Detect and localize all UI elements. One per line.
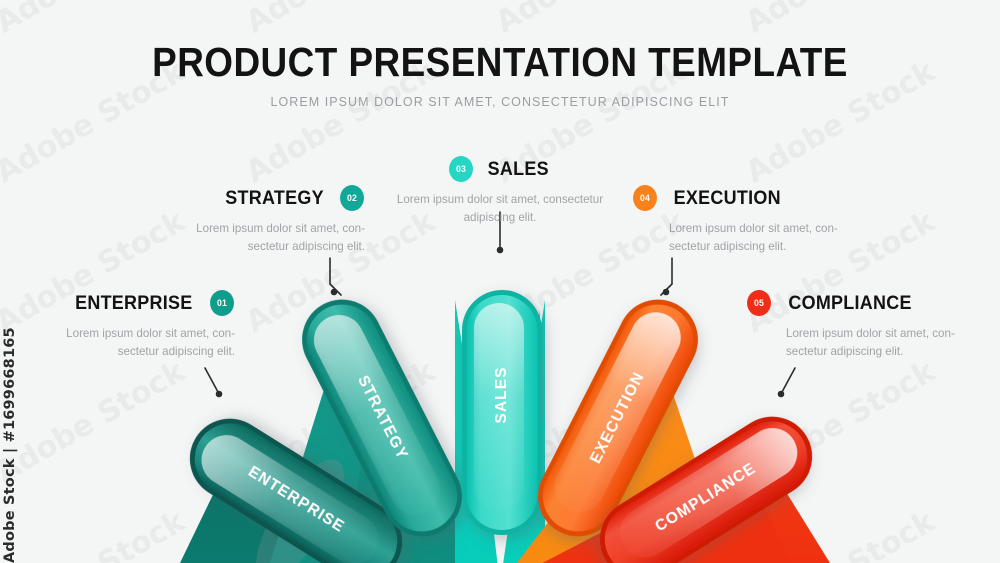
watermark-credit: Adobe Stock | #1699668165 [2, 327, 18, 563]
page-title: PRODUCT PRESENTATION TEMPLATE [50, 42, 950, 83]
page-subtitle: LOREM IPSUM DOLOR SIT AMET, CONSECTETUR … [0, 95, 1000, 109]
desc-line-1: Lorem ipsum dolor sit amet, consectetur [397, 193, 603, 206]
section-desc-execution: Lorem ipsum dolor sit amet, con- sectetu… [632, 220, 882, 256]
desc-line-2: sectetur adipiscing elit. [669, 240, 786, 253]
section-desc-enterprise: Lorem ipsum dolor sit amet, con- sectetu… [0, 325, 235, 361]
section-desc-strategy: Lorem ipsum dolor sit amet, con- sectetu… [115, 220, 365, 256]
petal-sales[interactable]: SALES [462, 290, 542, 535]
section-badge-execution: 04 [633, 185, 657, 211]
section-title-strategy: STRATEGY [225, 187, 324, 210]
section-badge-sales: 03 [449, 156, 473, 182]
desc-line-1: Lorem ipsum dolor sit amet, con- [786, 327, 955, 340]
petal-label-sales: SALES [493, 366, 510, 423]
section-compliance[interactable]: 05 COMPLIANCE Lorem ipsum dolor sit amet… [746, 290, 1000, 361]
section-title-execution: EXECUTION [674, 187, 781, 210]
section-desc-sales: Lorem ipsum dolor sit amet, consectetur … [360, 191, 640, 227]
section-title-sales: SALES [488, 158, 549, 181]
section-title-enterprise: ENTERPRISE [75, 292, 192, 315]
section-sales[interactable]: 03 SALES Lorem ipsum dolor sit amet, con… [360, 156, 640, 227]
desc-line-1: Lorem ipsum dolor sit amet, con- [669, 222, 838, 235]
desc-line-1: Lorem ipsum dolor sit amet, con- [196, 222, 365, 235]
section-desc-compliance: Lorem ipsum dolor sit amet, con- sectetu… [746, 325, 1000, 361]
section-enterprise[interactable]: ENTERPRISE 01 Lorem ipsum dolor sit amet… [0, 290, 235, 361]
desc-line-2: sectetur adipiscing elit. [118, 345, 235, 358]
desc-line-2: sectetur adipiscing elit. [248, 240, 365, 253]
section-strategy[interactable]: STRATEGY 02 Lorem ipsum dolor sit amet, … [115, 185, 365, 256]
desc-line-2: sectetur adipiscing elit. [786, 345, 903, 358]
desc-line-1: Lorem ipsum dolor sit amet, con- [66, 327, 235, 340]
header: PRODUCT PRESENTATION TEMPLATE LOREM IPSU… [0, 42, 1000, 109]
section-title-compliance: COMPLIANCE [788, 292, 911, 315]
section-execution[interactable]: 04 EXECUTION Lorem ipsum dolor sit amet,… [632, 185, 882, 256]
section-badge-enterprise: 01 [210, 290, 234, 316]
infographic-canvas: ENTERPRISE STRATEGY SALES EXECUTION [0, 0, 1000, 563]
desc-line-2: adipiscing elit. [464, 211, 537, 224]
section-badge-compliance: 05 [747, 290, 771, 316]
